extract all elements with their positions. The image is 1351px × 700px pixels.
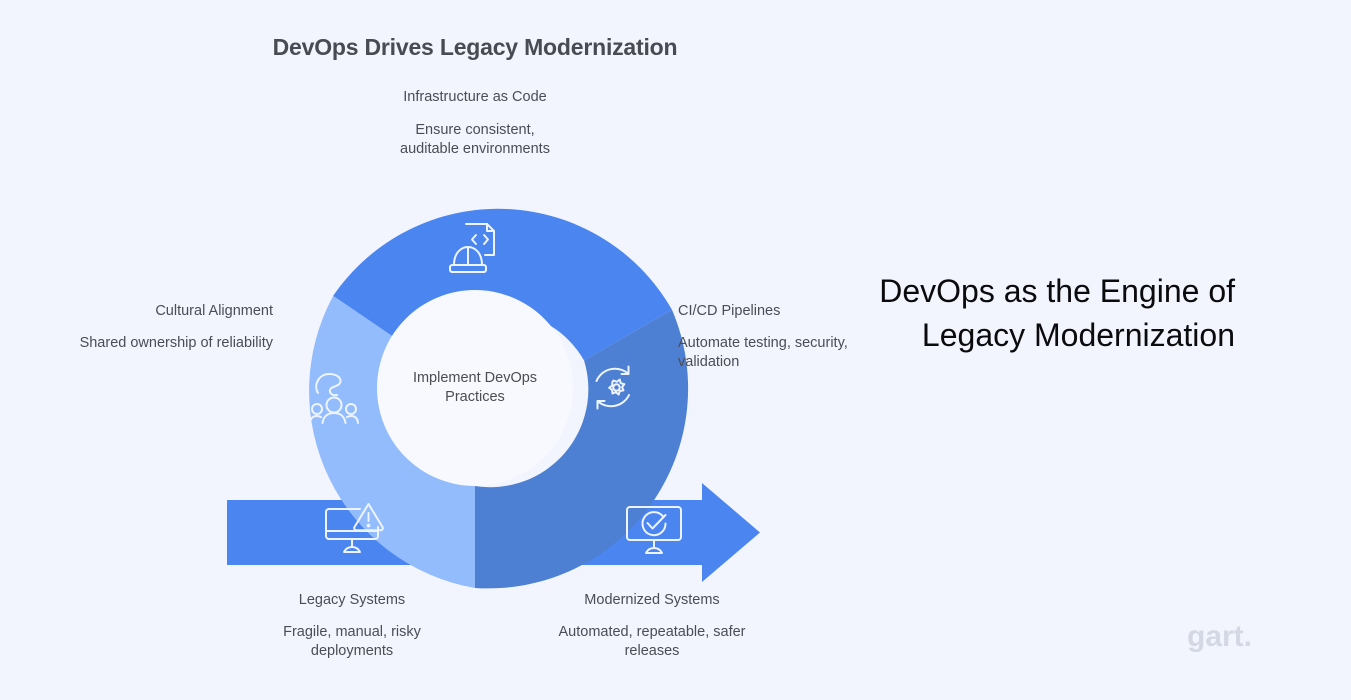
callout-description: Shared ownership of reliability [75,334,273,353]
donut-center-label: Implement DevOps Practices [385,369,565,408]
callout-title: Infrastructure as Code [389,88,561,107]
callout-description: Ensure consistent, auditable environment… [389,121,561,159]
callout-cultural-alignment: Cultural Alignment Shared ownership of r… [75,302,273,353]
callout-infrastructure-as-code: Infrastructure as Code Ensure consistent… [389,88,561,159]
callout-description: Fragile, manual, risky deployments [252,623,452,661]
gart-logo-icon: gart. [1187,620,1273,654]
slide-headline: DevOps as the Engine of Legacy Moderniza… [815,270,1235,358]
callout-modernized-systems: Modernized Systems Automated, repeatable… [552,591,752,661]
gart-logo-text: gart. [1187,620,1252,653]
callout-title: Modernized Systems [552,591,752,610]
callout-legacy-systems: Legacy Systems Fragile, manual, risky de… [252,591,452,661]
brand-logo: gart. [1187,620,1273,654]
callout-description: Automated, repeatable, safer releases [552,623,752,661]
slide-canvas: DevOps Drives Legacy Modernization [0,0,1351,700]
callout-title: Cultural Alignment [75,302,273,321]
callout-title: Legacy Systems [252,591,452,610]
